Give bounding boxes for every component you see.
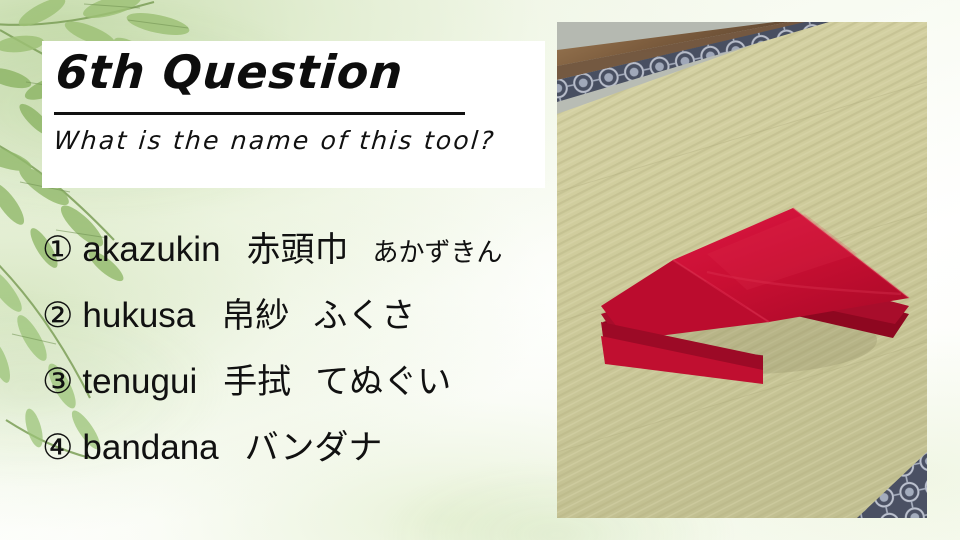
option-kanji-4: バンダナ xyxy=(245,431,383,465)
question-photo xyxy=(557,22,927,518)
title-underline xyxy=(54,112,465,115)
option-marker-2: ② xyxy=(42,299,73,334)
page-title: 6th Question xyxy=(54,45,405,99)
option-romaji-1: akazukin xyxy=(82,232,220,267)
option-kana-1: あかずきん xyxy=(373,240,503,266)
option-romaji-3: tenugui xyxy=(82,364,197,399)
option-marker-1: ① xyxy=(42,233,73,268)
slide-root: 6th Question What is the name of this to… xyxy=(0,0,960,540)
option-kana-3: てぬぐい xyxy=(315,365,451,399)
question-subtitle: What is the name of this tool? xyxy=(53,126,497,155)
question-card: 6th Question What is the name of this to… xyxy=(42,41,545,188)
option-marker-4: ④ xyxy=(42,431,73,466)
answer-options-list: ① akazukin 赤頭巾 あかずきん ② hukusa 帛紗 ふくさ ③ t… xyxy=(42,232,552,496)
answer-option-1[interactable]: ① akazukin 赤頭巾 あかずきん xyxy=(42,232,552,298)
option-kanji-3: 手拭 xyxy=(223,365,291,399)
option-marker-3: ③ xyxy=(42,365,73,400)
answer-option-4[interactable]: ④ bandana バンダナ xyxy=(42,430,552,496)
option-kanji-2: 帛紗 xyxy=(221,299,289,333)
answer-option-2[interactable]: ② hukusa 帛紗 ふくさ xyxy=(42,298,552,364)
option-kanji-1: 赤頭巾 xyxy=(247,233,349,267)
option-romaji-4: bandana xyxy=(82,430,218,465)
option-romaji-2: hukusa xyxy=(82,298,195,333)
answer-option-3[interactable]: ③ tenugui 手拭 てぬぐい xyxy=(42,364,552,430)
option-kana-2: ふくさ xyxy=(313,299,415,333)
